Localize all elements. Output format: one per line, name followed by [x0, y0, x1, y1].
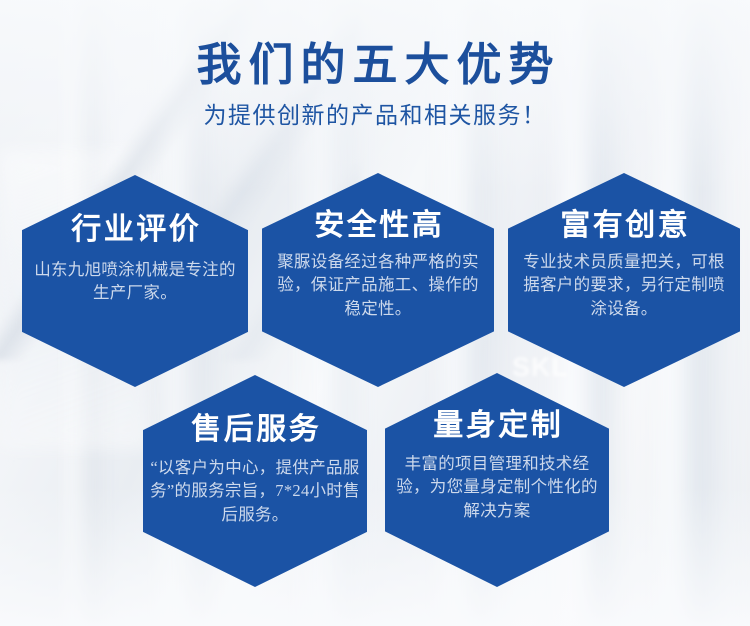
- advantages-banner: SKL 我们的五大优势 为提供创新的产品和相关服务！ 行业评价 山东九旭喷涂机械…: [0, 0, 750, 626]
- advantage-body: “以客户为中心，提供产品服务”的服务宗旨，7*24小时售后服务。: [149, 456, 361, 526]
- advantage-title: 量身定制: [431, 409, 564, 442]
- background-watermark-text: SKL: [512, 352, 569, 383]
- advantage-title: 行业评价: [69, 213, 202, 246]
- advantage-title: 安全性高: [312, 209, 445, 242]
- advantage-title: 富有创意: [558, 209, 691, 242]
- advantage-body: 专业技术员质量把关，可根据客户的要求，另行定制喷涂设备。: [516, 250, 732, 320]
- page-title: 我们的五大优势: [0, 40, 750, 92]
- advantage-title: 售后服务: [189, 413, 322, 446]
- background-bottom-glow: [0, 486, 750, 626]
- header-block: 我们的五大优势 为提供创新的产品和相关服务！: [0, 40, 750, 129]
- advantage-body: 丰富的项目管理和技术经验，为您量身定制个性化的解决方案: [392, 452, 602, 522]
- advantage-body: 山东九旭喷涂机械是专注的生产厂家。: [32, 258, 238, 305]
- page-subtitle: 为提供创新的产品和相关服务！: [0, 102, 750, 130]
- advantage-body: 聚脲设备经过各种严格的实验，保证产品施工、操作的稳定性。: [270, 250, 486, 320]
